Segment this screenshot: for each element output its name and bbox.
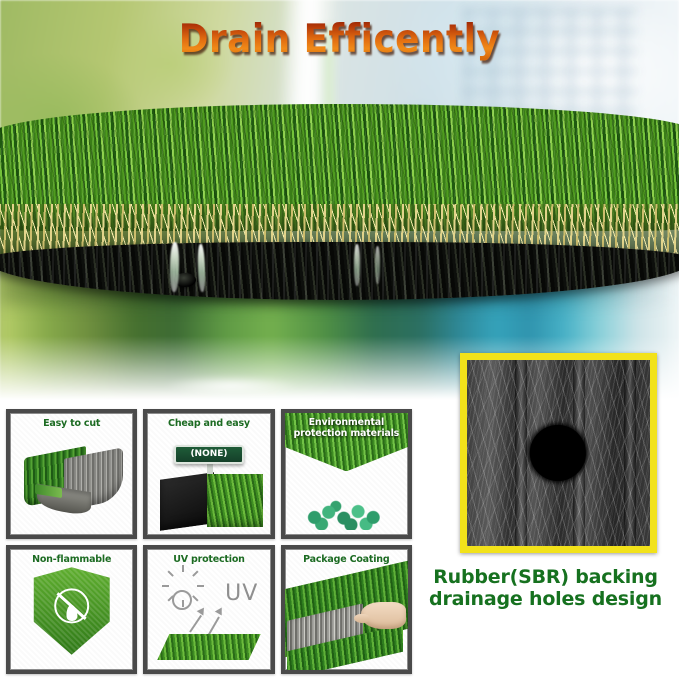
sun-ray-icon (197, 585, 204, 587)
feature-label: Non-flammable (10, 554, 133, 565)
product-infographic: Drain Efficently Easy to cut (NONE) Chea… (0, 0, 679, 679)
sun-uv-icon: UV (147, 549, 270, 671)
feature-label: Easy to cut (10, 418, 133, 429)
feature-grid: Easy to cut (NONE) Cheap and easy Enviro… (6, 409, 412, 674)
sun-ray-icon (192, 595, 198, 601)
feature-label: Cheap and easy (147, 418, 270, 429)
water-drip-icon (354, 244, 360, 286)
drainage-hole-icon (529, 425, 585, 481)
panel-caption: Rubber(SBR) backing drainage holes desig… (412, 566, 679, 610)
turf-cross-section (0, 104, 679, 296)
sun-ray-icon (162, 585, 169, 587)
feature-cell-easy-to-cut: Easy to cut (6, 409, 137, 539)
feature-label: Environmental protection materials (285, 417, 408, 439)
none-sign-text: (NONE) (190, 449, 227, 459)
feature-cell-package-coating: Package Coating (281, 545, 412, 675)
none-sign-icon: (NONE) (147, 413, 270, 535)
page-title: Drain Efficently (27, 17, 652, 62)
no-flame-shield-icon (10, 549, 133, 671)
feature-label: UV protection (147, 554, 270, 565)
sun-ray-icon (182, 600, 184, 607)
hand-lifting-turf-icon (285, 549, 408, 671)
rubber-backing-panel (460, 353, 657, 553)
feature-label: Package Coating (285, 554, 408, 565)
feature-cell-environmental-protection: Environmental protection materials (281, 409, 412, 539)
uv-label: UV (225, 581, 258, 606)
turf-backing-layer (0, 242, 679, 300)
feature-cell-uv-protection: UV UV protection (143, 545, 274, 675)
panel-caption-line1: Rubber(SBR) backing (412, 566, 679, 588)
panel-caption-line2: drainage holes design (412, 588, 679, 610)
feature-cell-non-flammable: Non-flammable (6, 545, 137, 675)
sun-ray-icon (182, 565, 184, 572)
sun-ray-icon (167, 570, 173, 576)
sun-ray-icon (192, 570, 198, 576)
rolled-turf-icon (10, 413, 133, 535)
water-drip-icon (375, 246, 380, 284)
sun-ray-icon (167, 595, 173, 601)
feature-cell-cheap-and-easy: (NONE) Cheap and easy (143, 409, 274, 539)
